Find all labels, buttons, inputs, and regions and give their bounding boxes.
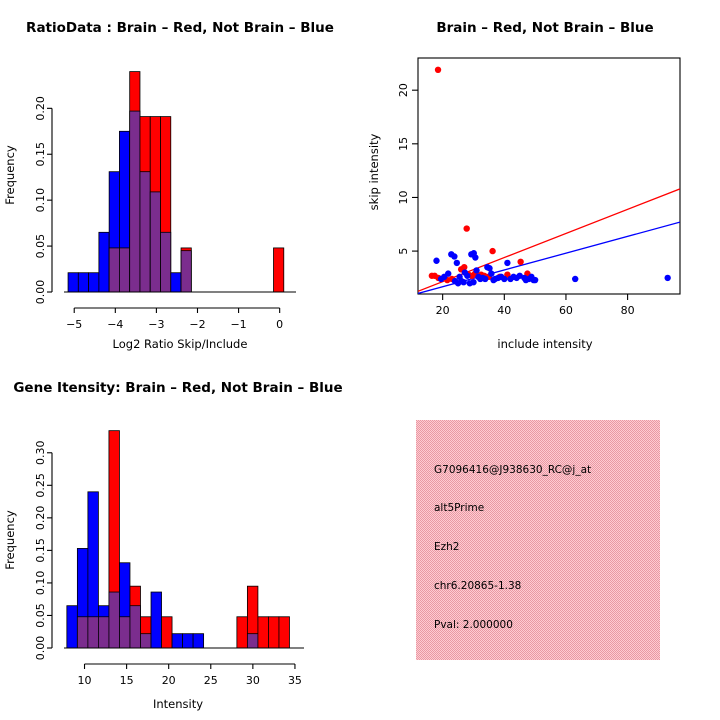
scatter-point: [464, 225, 470, 231]
gene-histogram-axes: 0.000.050.100.150.200.250.30101520253035: [34, 441, 304, 687]
panel-ratio-histogram: RatioData : Brain – Red, Not Brain – Blu…: [0, 0, 360, 360]
scatter-point: [501, 276, 507, 282]
panel-intensity-scatter: Brain – Red, Not Brain – Blue 5101520204…: [360, 0, 720, 360]
gene-info-splice-type: alt5Prime: [434, 502, 484, 514]
x-axis-tick-label: −5: [66, 318, 82, 331]
y-axis-tick-label: 0.15: [34, 142, 47, 167]
scatter-point: [438, 276, 444, 282]
x-axis-tick-label: 15: [120, 674, 134, 687]
y-axis-tick-label: 5: [397, 248, 410, 255]
x-axis-tick-label: 35: [288, 674, 302, 687]
scatter-point: [435, 67, 441, 73]
histogram-bar-overlap: [150, 192, 160, 292]
histogram-bar-overlap: [161, 232, 171, 292]
histogram-bar: [78, 273, 88, 292]
histogram-bar-overlap: [109, 592, 120, 648]
scatter-point: [433, 258, 439, 264]
x-axis-tick-label: −4: [107, 318, 123, 331]
x-axis-tick-label: 0: [276, 318, 283, 331]
x-axis-tick-label: 20: [162, 674, 176, 687]
scatter-xaxis-label: include intensity: [497, 337, 592, 351]
y-axis-tick-label: 0.30: [34, 441, 47, 466]
scatter-point: [664, 275, 670, 281]
x-axis-tick-label: 40: [497, 304, 511, 317]
histogram-bar-overlap: [119, 248, 129, 292]
scatter-point: [532, 277, 538, 283]
histogram-bar-overlap: [130, 111, 140, 292]
x-axis-tick-label: −3: [148, 318, 164, 331]
gene-histogram-svg: Gene Itensity: Brain – Red, Not Brain – …: [0, 360, 360, 720]
y-axis-tick-label: 0.00: [34, 280, 47, 305]
ratio-xaxis-label: Log2 Ratio Skip/Include: [113, 337, 248, 351]
x-axis-tick-label: 10: [78, 674, 92, 687]
y-axis-tick-label: 0.25: [34, 473, 47, 498]
y-axis-tick-label: 0.05: [34, 603, 47, 628]
scatter-point: [482, 276, 488, 282]
histogram-bar: [89, 273, 99, 292]
gene-info-svg: G7096416@J938630_RC@j_at alt5Prime Ezh2 …: [360, 360, 720, 720]
histogram-bar: [171, 273, 181, 292]
histogram-bar: [67, 606, 78, 648]
scatter-plot-frame: [418, 58, 680, 294]
gene-info-gene-symbol: Ezh2: [434, 541, 459, 553]
histogram-bar-overlap: [119, 617, 130, 648]
scatter-plot-axes: 510152020406080: [397, 83, 635, 317]
gene-histogram-title: Gene Itensity: Brain – Red, Not Brain – …: [13, 380, 342, 396]
plot-frame: [418, 58, 680, 294]
histogram-bar-overlap: [88, 617, 99, 648]
scatter-point: [470, 279, 476, 285]
histogram-bar: [193, 634, 204, 648]
scatter-point: [454, 260, 460, 266]
histogram-bar: [99, 232, 109, 292]
ratio-histogram-title: RatioData : Brain – Red, Not Brain – Blu…: [26, 20, 334, 36]
scatter-point: [504, 260, 510, 266]
scatter-point: [489, 248, 495, 254]
histogram-bar-overlap: [247, 634, 258, 648]
scatter-point: [451, 253, 457, 259]
histogram-bar: [274, 248, 284, 292]
histogram-bar: [279, 617, 290, 648]
y-axis-tick-label: 0.10: [34, 188, 47, 213]
scatter-point: [460, 279, 466, 285]
y-axis-tick-label: 20: [397, 83, 410, 97]
histogram-bar: [237, 617, 248, 648]
gene-info-pval: Pval: 2.000000: [434, 619, 513, 631]
histogram-bar: [258, 617, 269, 648]
x-axis-tick-label: 30: [246, 674, 260, 687]
scatter-point: [445, 270, 451, 276]
scatter-point: [473, 267, 479, 273]
histogram-bar: [268, 617, 279, 648]
scatter-yaxis-label: skip intensity: [367, 133, 381, 210]
histogram-bar-overlap: [140, 634, 151, 648]
y-axis-tick-label: 0.15: [34, 538, 47, 563]
scatter-point: [455, 280, 461, 286]
histogram-bar-overlap: [181, 251, 191, 292]
y-axis-tick-label: 15: [397, 137, 410, 151]
histogram-bar: [68, 273, 78, 292]
x-axis-tick-label: 20: [436, 304, 450, 317]
gene-histogram-bars: [67, 431, 290, 648]
y-axis-tick-label: 0.20: [34, 506, 47, 531]
histogram-bar-overlap: [130, 606, 141, 648]
scatter-point: [517, 259, 523, 265]
gene-info-probe-id: G7096416@J938630_RC@j_at: [434, 464, 591, 476]
y-axis-tick-label: 0.00: [34, 636, 47, 661]
scatter-point: [488, 270, 494, 276]
ratio-histogram-bars: [68, 72, 284, 292]
histogram-bar-overlap: [109, 248, 119, 292]
histogram-bar-overlap: [77, 617, 88, 648]
scatter-plot-svg: Brain – Red, Not Brain – Blue 5101520204…: [360, 0, 720, 360]
scatter-point: [472, 254, 478, 260]
histogram-bar: [183, 634, 194, 648]
x-axis-tick-label: −1: [230, 318, 246, 331]
histogram-bar: [151, 592, 162, 648]
scatter-plot-title: Brain – Red, Not Brain – Blue: [436, 20, 653, 36]
scatter-points: [429, 67, 671, 287]
y-axis-tick-label: 0.20: [34, 96, 47, 121]
ratio-yaxis-label: Frequency: [3, 145, 17, 205]
x-axis-tick-label: 80: [621, 304, 635, 317]
x-axis-tick-label: −2: [189, 318, 205, 331]
x-axis-tick-label: 60: [559, 304, 573, 317]
histogram-bar-overlap: [140, 172, 150, 292]
panel-gene-info: G7096416@J938630_RC@j_at alt5Prime Ezh2 …: [360, 360, 720, 720]
scatter-point: [572, 276, 578, 282]
y-axis-tick-label: 10: [397, 190, 410, 204]
histogram-bar: [162, 617, 173, 648]
ratio-histogram-svg: RatioData : Brain – Red, Not Brain – Blu…: [0, 0, 360, 360]
scatter-point: [464, 273, 470, 279]
gene-yaxis-label: Frequency: [3, 510, 17, 570]
y-axis-tick-label: 0.10: [34, 571, 47, 596]
y-axis-tick-label: 0.05: [34, 234, 47, 259]
x-axis-tick-label: 25: [204, 674, 218, 687]
panel-gene-intensity-histogram: Gene Itensity: Brain – Red, Not Brain – …: [0, 360, 360, 720]
gene-info-locus: chr6.20865-1.38: [434, 580, 521, 592]
histogram-bar: [172, 634, 183, 648]
histogram-bar-overlap: [98, 617, 109, 648]
gene-xaxis-label: Intensity: [153, 697, 203, 711]
